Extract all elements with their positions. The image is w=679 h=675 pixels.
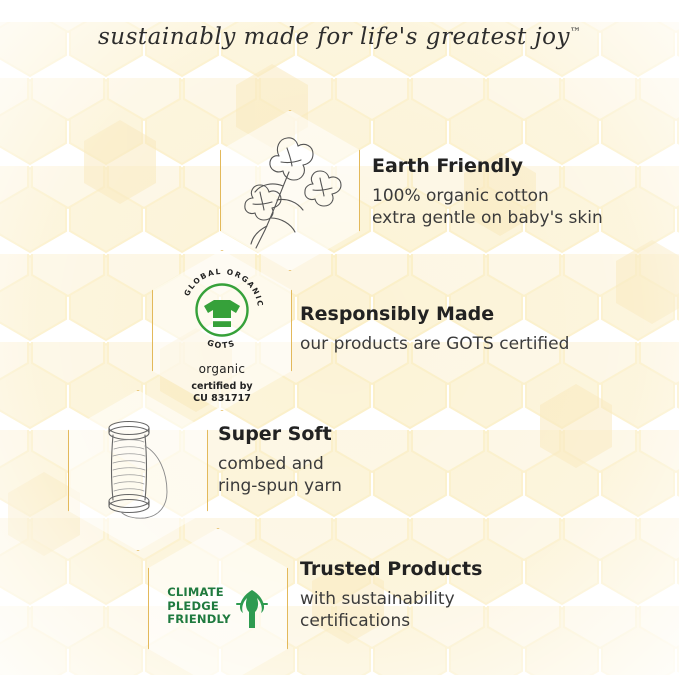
gots-organic-label: organic <box>152 362 292 376</box>
headline-text: sustainably made for life's greatest joy <box>98 24 570 50</box>
feature-line: 100% organic cotton <box>372 185 603 207</box>
feature-line: ring-spun yarn <box>218 475 342 497</box>
feature-title: Super Soft <box>218 423 342 447</box>
feature-text-responsibly-made: Responsibly Made our products are GOTS c… <box>300 303 569 355</box>
feature-line: combed and <box>218 453 342 475</box>
cotton-plant-icon <box>220 110 360 271</box>
feature-title: Responsibly Made <box>300 303 569 327</box>
feature-title: Earth Friendly <box>372 155 603 179</box>
cpf-bird-icon <box>235 584 269 630</box>
feature-line: our products are GOTS certified <box>300 333 569 355</box>
feature-line: with sustainability <box>300 588 482 610</box>
feature-hex-super-soft <box>68 390 208 551</box>
cpf-line-3: FRIENDLY <box>167 613 230 627</box>
svg-text:GOTS: GOTS <box>206 338 237 350</box>
climate-pledge-friendly-icon: CLIMATE PLEDGE FRIENDLY <box>148 528 288 675</box>
feature-hex-earth-friendly <box>220 110 360 271</box>
feature-hex-responsibly-made: GLOBAL ORGANIC TEXTILE STANDARD GOTS org… <box>152 250 292 411</box>
feature-line: extra gentle on baby's skin <box>372 207 603 229</box>
cpf-line-2: PLEDGE <box>167 600 230 614</box>
infographic-page: sustainably made for life's greatest joy… <box>0 0 679 675</box>
feature-line: certifications <box>300 610 482 632</box>
feature-text-super-soft: Super Soft combed and ring-spun yarn <box>218 423 342 497</box>
trademark-symbol: ™ <box>570 25 581 38</box>
page-headline: sustainably made for life's greatest joy… <box>0 24 679 50</box>
thread-spool-icon <box>68 390 208 551</box>
feature-text-earth-friendly: Earth Friendly 100% organic cotton extra… <box>372 155 603 229</box>
feature-text-trusted-products: Trusted Products with sustainability cer… <box>300 558 482 632</box>
cpf-line-1: CLIMATE <box>167 586 230 600</box>
feature-title: Trusted Products <box>300 558 482 582</box>
feature-hex-trusted-products: CLIMATE PLEDGE FRIENDLY <box>148 528 288 675</box>
